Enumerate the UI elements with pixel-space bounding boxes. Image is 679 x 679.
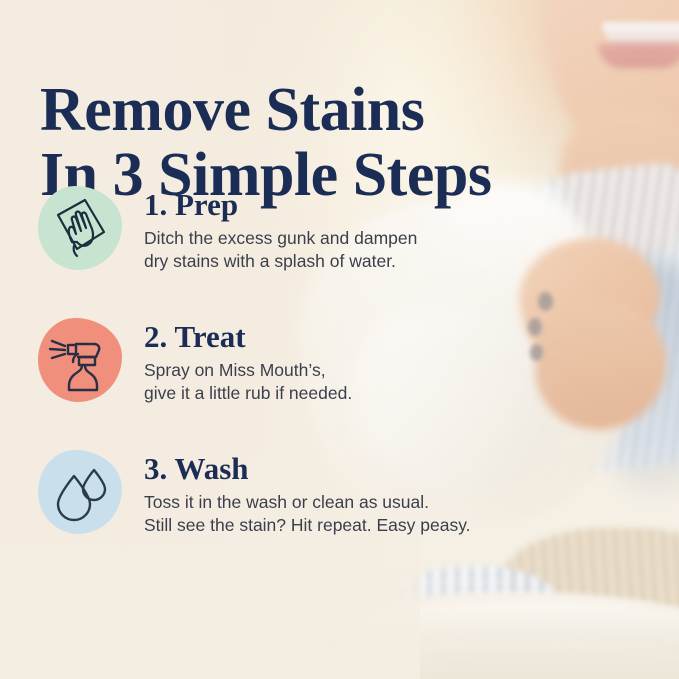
water-droplets-icon	[38, 450, 122, 534]
step-description-line: dry stains with a splash of water.	[144, 250, 648, 273]
step-text-block: 1. Prep Ditch the excess gunk and dampen…	[144, 186, 648, 273]
step-description-line: give it a little rub if needed.	[144, 382, 648, 405]
step-item-wash: 3. Wash Toss it in the wash or clean as …	[38, 450, 648, 568]
step-text-block: 2. Treat Spray on Miss Mouth’s, give it …	[144, 318, 648, 405]
step-description-line: Ditch the excess gunk and dampen	[144, 227, 648, 250]
hand-wiping-cloth-icon	[38, 186, 122, 270]
step-description-line: Toss it in the wash or clean as usual.	[144, 491, 648, 514]
steps-list: 1. Prep Ditch the excess gunk and dampen…	[38, 186, 648, 582]
step-title: 2. Treat	[144, 320, 648, 355]
step-description-line: Still see the stain? Hit repeat. Easy pe…	[144, 514, 648, 537]
step-description: Spray on Miss Mouth’s, give it a little …	[144, 359, 648, 406]
step-item-prep: 1. Prep Ditch the excess gunk and dampen…	[38, 186, 648, 304]
step-description: Ditch the excess gunk and dampen dry sta…	[144, 227, 648, 274]
headline-line-1: Remove Stains	[40, 78, 640, 144]
step-item-treat: 2. Treat Spray on Miss Mouth’s, give it …	[38, 318, 648, 436]
step-text-block: 3. Wash Toss it in the wash or clean as …	[144, 450, 648, 537]
step-title: 1. Prep	[144, 188, 648, 223]
spray-bottle-icon	[38, 318, 122, 402]
poster-content: Remove Stains In 3 Simple Steps 1. Prep	[0, 0, 679, 679]
promo-poster: Remove Stains In 3 Simple Steps 1. Prep	[0, 0, 679, 679]
step-description: Toss it in the wash or clean as usual. S…	[144, 491, 648, 538]
step-title: 3. Wash	[144, 452, 648, 487]
step-description-line: Spray on Miss Mouth’s,	[144, 359, 648, 382]
